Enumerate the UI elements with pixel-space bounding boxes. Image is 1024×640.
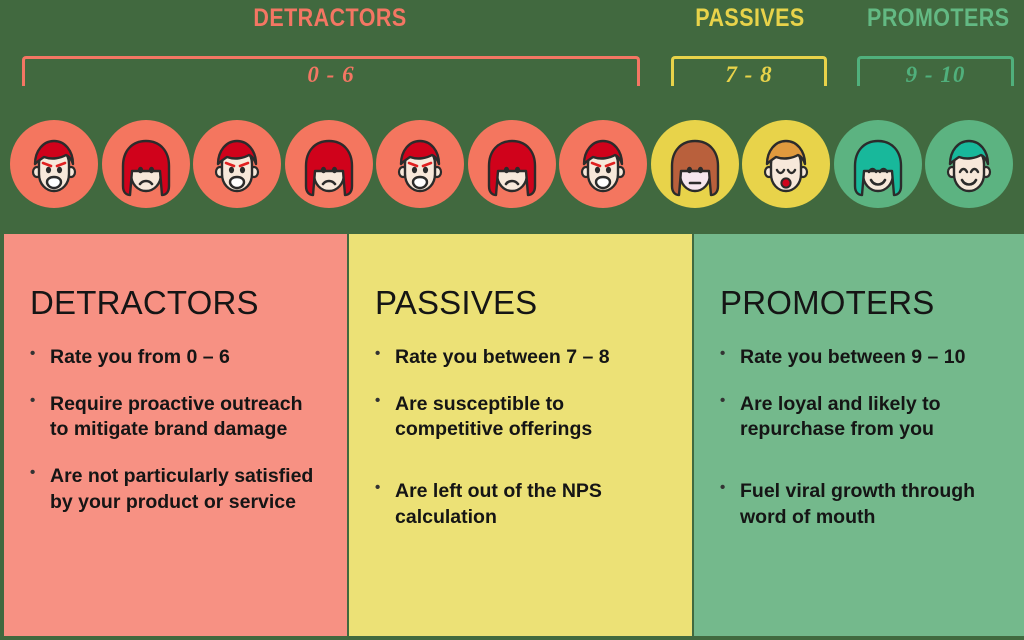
bullet-list-passives: Rate you between 7 – 8 Are susceptible t…: [375, 345, 666, 531]
panel-passives: PASSIVES Rate you between 7 – 8 Are susc…: [349, 234, 692, 636]
list-item: Rate you from 0 – 6: [30, 345, 321, 371]
panel-heading-passives: PASSIVES: [375, 286, 666, 319]
segment-title-promoters: PROMOTERS: [867, 4, 1003, 33]
avatar-detractor-2: [193, 120, 281, 208]
segment-title-detractors: DETRACTORS: [175, 4, 485, 33]
bullet-list-promoters: Rate you between 9 – 10 Are loyal and li…: [720, 345, 998, 531]
range-label-promoters: 9 - 10: [857, 62, 1014, 88]
list-item: Fuel viral growth through word of mouth: [720, 479, 998, 530]
panel-heading-promoters: PROMOTERS: [720, 286, 998, 319]
avatar-detractor-3: [285, 120, 373, 208]
avatar-detractor-6: [559, 120, 647, 208]
avatar-passive-7: [651, 120, 739, 208]
avatar-promoter-9: [834, 120, 922, 208]
list-item: Are susceptible to competitive offerings: [375, 392, 666, 443]
panel-promoters: PROMOTERS Rate you between 9 – 10 Are lo…: [694, 234, 1024, 636]
list-item: Are left out of the NPS calculation: [375, 479, 666, 530]
avatar-detractor-0: [10, 120, 98, 208]
list-item: Are loyal and likely to repurchase from …: [720, 392, 998, 443]
avatar-detractor-4: [376, 120, 464, 208]
avatar-promoter-10: [925, 120, 1013, 208]
range-label-detractors: 0 - 6: [22, 62, 640, 88]
avatar-row: [0, 120, 1024, 212]
avatar-detractor-1: [102, 120, 190, 208]
list-item: Are not particularly satisfied by your p…: [30, 464, 321, 515]
list-item: Rate you between 9 – 10: [720, 345, 998, 371]
panel-heading-detractors: DETRACTORS: [30, 286, 321, 319]
list-item: Rate you between 7 – 8: [375, 345, 666, 371]
avatar-passive-8: [742, 120, 830, 208]
segment-title-passives: PASSIVES: [683, 4, 817, 33]
range-label-passives: 7 - 8: [671, 62, 827, 88]
bullet-list-detractors: Rate you from 0 – 6 Require proactive ou…: [30, 345, 321, 516]
panel-detractors: DETRACTORS Rate you from 0 – 6 Require p…: [4, 234, 347, 636]
avatar-detractor-5: [468, 120, 556, 208]
list-item: Require proactive outreach to mitigate b…: [30, 392, 321, 443]
nps-infographic: DETRACTORS PASSIVES PROMOTERS 0 - 6 7 - …: [0, 0, 1024, 640]
